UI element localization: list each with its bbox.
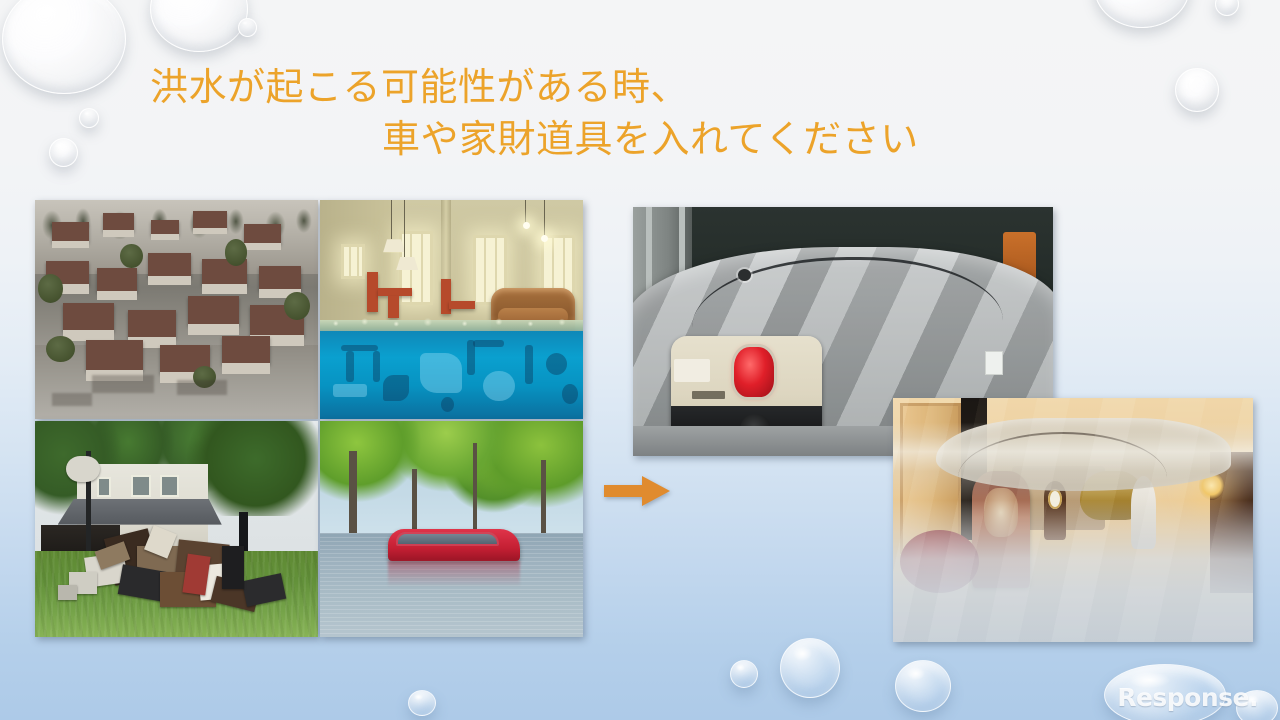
photo-flooded-living-room (320, 200, 583, 419)
water-droplet-decoration (730, 660, 758, 688)
water-droplet-decoration (780, 638, 840, 698)
water-droplet-decoration (895, 660, 951, 712)
water-droplet-decoration (49, 138, 78, 167)
water-droplet-decoration (408, 690, 436, 716)
water-droplet-decoration (2, 0, 126, 94)
water-droplet-decoration (1175, 68, 1219, 112)
right-arrow-icon (604, 476, 670, 506)
photo-furniture-under-plastic-sheet (893, 398, 1253, 642)
photo-submerged-red-car (320, 421, 583, 637)
water-droplet-decoration (150, 0, 248, 52)
photo-curbside-debris-pile (35, 421, 318, 637)
photo-flooded-neighborhood (35, 200, 318, 419)
watermark-logo: Response. (1117, 683, 1258, 712)
water-droplet-decoration (1094, 0, 1190, 28)
slide-title: 洪水が起こる可能性がある時、 車や家財道具を入れてください (150, 62, 1050, 166)
title-line-2: 車や家財道具を入れてください (150, 114, 1050, 166)
water-droplet-decoration (1215, 0, 1239, 16)
title-line-1: 洪水が起こる可能性がある時、 (150, 67, 689, 109)
slide-canvas: 洪水が起こる可能性がある時、 車や家財道具を入れてください (0, 0, 1280, 720)
water-droplet-decoration (238, 18, 257, 37)
water-droplet-decoration (79, 108, 99, 128)
